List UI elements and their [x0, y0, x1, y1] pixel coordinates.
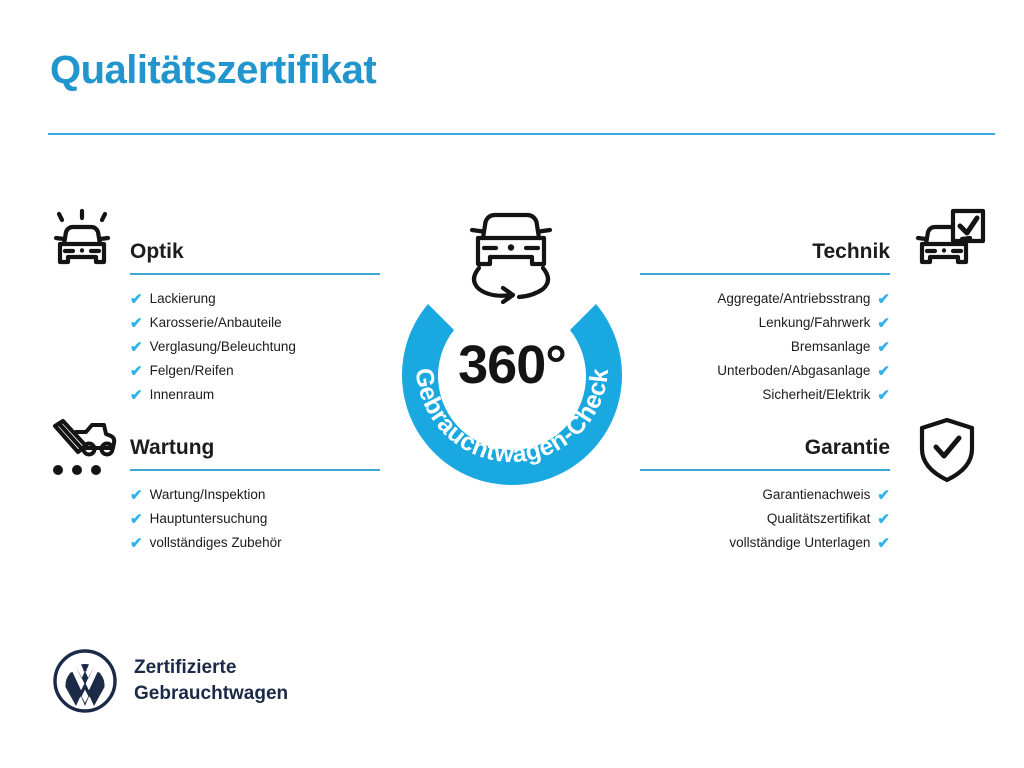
check-icon: ✔ — [130, 388, 143, 403]
list-item: Aggregate/Antriebsstrang✔ — [640, 287, 890, 311]
check-icon: ✔ — [130, 488, 143, 503]
list-item-label: Sicherheit/Elektrik — [762, 383, 870, 407]
check-icon: ✔ — [877, 488, 890, 503]
section-optik-title: Optik — [130, 238, 380, 266]
section-wartung-list: ✔Wartung/Inspektion ✔Hauptuntersuchung ✔… — [130, 483, 380, 555]
list-item-label: Karosserie/Anbauteile — [150, 311, 282, 335]
section-wartung: Wartung ✔Wartung/Inspektion ✔Hauptunters… — [130, 434, 380, 555]
check-icon: ✔ — [130, 364, 143, 379]
list-item: ✔Lackierung — [130, 287, 380, 311]
list-item: Lenkung/Fahrwerk✔ — [640, 311, 890, 335]
check-icon: ✔ — [130, 340, 143, 355]
check-icon: ✔ — [877, 292, 890, 307]
list-item-label: Lenkung/Fahrwerk — [759, 311, 871, 335]
section-garantie: Garantie Garantienachweis✔ Qualitätszert… — [640, 434, 890, 555]
section-garantie-divider — [640, 469, 890, 471]
section-wartung-header: Wartung — [130, 434, 380, 476]
section-optik-header: Optik — [130, 238, 380, 280]
badge-degrees: 360° — [378, 334, 646, 396]
list-item-label: Aggregate/Antriebsstrang — [717, 287, 870, 311]
list-item: Garantienachweis✔ — [640, 483, 890, 507]
footer-line-2: Gebrauchtwagen — [134, 681, 288, 707]
page-title: Qualitätszertifikat — [50, 50, 376, 90]
check-icon: ✔ — [877, 388, 890, 403]
check-icon: ✔ — [877, 512, 890, 527]
list-item-label: Felgen/Reifen — [150, 359, 234, 383]
check-icon: ✔ — [130, 512, 143, 527]
car-rotate-360-icon — [455, 198, 567, 304]
section-technik-header: Technik — [640, 238, 890, 280]
list-item-label: Lackierung — [150, 287, 216, 311]
list-item-label: Verglasung/Beleuchtung — [150, 335, 296, 359]
title-divider — [48, 133, 995, 135]
list-item: ✔Felgen/Reifen — [130, 359, 380, 383]
list-item-label: Unterboden/Abgasanlage — [717, 359, 870, 383]
section-optik-list: ✔Lackierung ✔Karosserie/Anbauteile ✔Verg… — [130, 287, 380, 407]
list-item-label: Wartung/Inspektion — [150, 483, 266, 507]
list-item: ✔Karosserie/Anbauteile — [130, 311, 380, 335]
check-icon: ✔ — [877, 536, 890, 551]
list-item-label: vollständige Unterlagen — [729, 531, 870, 555]
footer-brand-lockup: Zertifizierte Gebrauchtwagen — [52, 648, 288, 714]
list-item-label: Innenraum — [150, 383, 215, 407]
list-item: Bremsanlage✔ — [640, 335, 890, 359]
list-item: ✔Wartung/Inspektion — [130, 483, 380, 507]
list-item-label: Bremsanlage — [791, 335, 871, 359]
section-garantie-title: Garantie — [640, 434, 890, 462]
vw-logo-icon — [52, 648, 118, 714]
footer-brand-text: Zertifizierte Gebrauchtwagen — [134, 655, 288, 707]
section-technik-divider — [640, 273, 890, 275]
car-front-checkbox-icon — [912, 206, 988, 283]
section-technik-list: Aggregate/Antriebsstrang✔ Lenkung/Fahrwe… — [640, 287, 890, 407]
section-garantie-list: Garantienachweis✔ Qualitätszertifikat✔ v… — [640, 483, 890, 555]
check-icon: ✔ — [130, 292, 143, 307]
section-technik-title: Technik — [640, 238, 890, 266]
list-item: Unterboden/Abgasanlage✔ — [640, 359, 890, 383]
shield-check-icon — [916, 416, 978, 489]
section-optik-divider — [130, 273, 380, 275]
section-garantie-header: Garantie — [640, 434, 890, 476]
car-service-pen-icon — [46, 418, 118, 485]
check-icon: ✔ — [877, 340, 890, 355]
list-item-label: Hauptuntersuchung — [150, 507, 268, 531]
section-wartung-title: Wartung — [130, 434, 380, 462]
list-item: vollständige Unterlagen✔ — [640, 531, 890, 555]
list-item: ✔vollständiges Zubehör — [130, 531, 380, 555]
list-item: ✔Verglasung/Beleuchtung — [130, 335, 380, 359]
footer-line-1: Zertifizierte — [134, 655, 288, 681]
certificate-page: Qualitätszertifikat — [0, 0, 1024, 768]
list-item-label: vollständiges Zubehör — [150, 531, 282, 555]
list-item-label: Garantienachweis — [762, 483, 870, 507]
list-item: Qualitätszertifikat✔ — [640, 507, 890, 531]
car-front-lights-icon — [46, 206, 118, 283]
check-icon: ✔ — [130, 316, 143, 331]
check-icon: ✔ — [877, 316, 890, 331]
section-wartung-divider — [130, 469, 380, 471]
section-technik: Technik Aggregate/Antriebsstrang✔ Lenkun… — [640, 238, 890, 407]
list-item-label: Qualitätszertifikat — [767, 507, 871, 531]
check-icon: ✔ — [877, 364, 890, 379]
section-optik: Optik ✔Lackierung ✔Karosserie/Anbauteile… — [130, 238, 380, 407]
list-item: ✔Hauptuntersuchung — [130, 507, 380, 531]
list-item: ✔Innenraum — [130, 383, 380, 407]
list-item: Sicherheit/Elektrik✔ — [640, 383, 890, 407]
check-icon: ✔ — [130, 536, 143, 551]
